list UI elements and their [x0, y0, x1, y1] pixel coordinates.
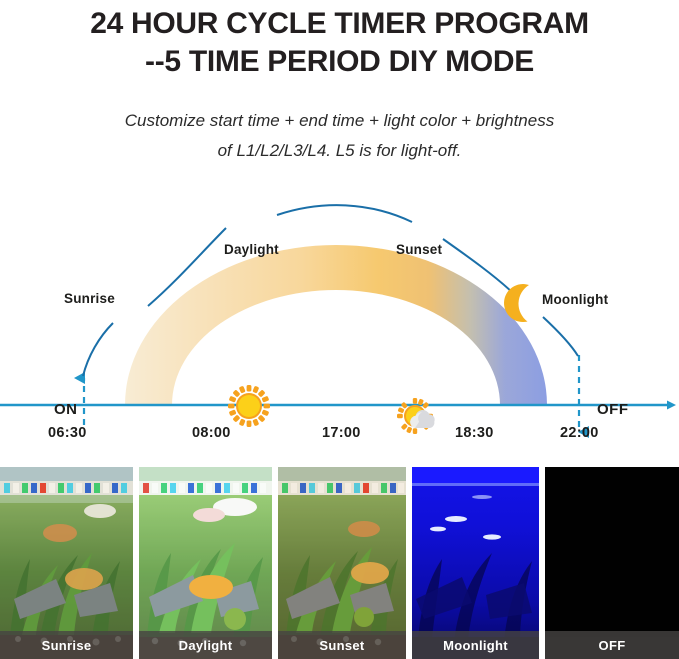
photo-sunset[interactable]: Sunset: [278, 467, 406, 659]
photo-sunrise[interactable]: Sunrise: [0, 467, 133, 659]
tick-label-1: 08:00: [192, 425, 231, 441]
page-subtitle-line-2: of L1/L2/L3/L4. L5 is for light-off.: [0, 136, 679, 166]
page-title-line-2: --5 TIME PERIOD DIY MODE: [0, 44, 679, 80]
timer-off-label: OFF: [597, 401, 629, 418]
aquarium-mode-photo-strip: Sunrise: [0, 467, 679, 659]
photo-caption-moonlight: Moonlight: [412, 631, 539, 659]
day-cycle-diagram: Sunrise Daylight Sunset Moonlight ON OFF…: [0, 180, 679, 460]
photo-caption-off: OFF: [545, 631, 679, 659]
phase-label-moonlight: Moonlight: [542, 292, 608, 307]
connector-on-to-sunrise: [83, 323, 113, 376]
header: 24 HOUR CYCLE TIMER PROGRAM --5 TIME PER…: [0, 0, 679, 166]
photo-caption-sunset: Sunset: [278, 631, 406, 659]
phase-label-daylight: Daylight: [224, 242, 279, 257]
photo-off[interactable]: OFF: [545, 467, 679, 659]
photo-daylight[interactable]: Daylight: [139, 467, 272, 659]
tick-label-4: 22:00: [560, 425, 599, 441]
phase-label-sunset: Sunset: [396, 242, 442, 257]
tick-label-2: 17:00: [322, 425, 361, 441]
timer-on-label: ON: [54, 401, 78, 418]
tick-label-0: 06:30: [48, 425, 87, 441]
photo-moonlight[interactable]: Moonlight: [412, 467, 539, 659]
connector-moonlight-to-off: [543, 317, 578, 356]
phase-label-sunrise: Sunrise: [64, 291, 115, 306]
tick-label-3: 18:30: [455, 425, 494, 441]
photo-caption-daylight: Daylight: [139, 631, 272, 659]
connector-daylight-to-sunset: [277, 205, 412, 222]
page-title-line-1: 24 HOUR CYCLE TIMER PROGRAM: [0, 6, 679, 42]
photo-caption-sunrise: Sunrise: [0, 631, 133, 659]
page-subtitle-line-1: Customize start time + end time + light …: [0, 106, 679, 136]
